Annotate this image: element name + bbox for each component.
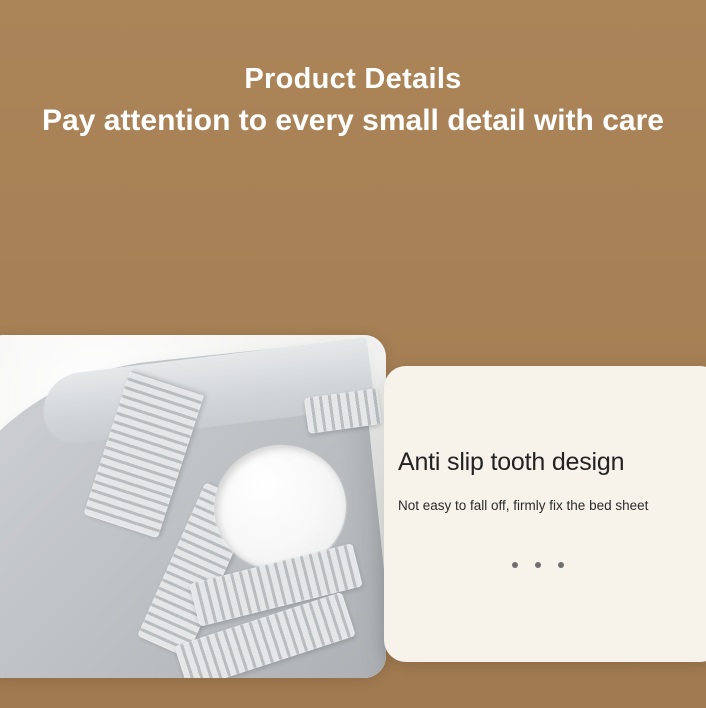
- page-title: Product Details: [0, 60, 706, 98]
- feature-description: Not easy to fall off, firmly fix the bed…: [398, 498, 706, 513]
- product-photo-image: [0, 335, 386, 678]
- feature-title: Anti slip tooth design: [398, 448, 706, 477]
- page-heading: Product Details Pay attention to every s…: [0, 60, 706, 142]
- carousel-dots[interactable]: [512, 562, 564, 568]
- page-subtitle: Pay attention to every small detail with…: [0, 100, 706, 142]
- carousel-dot[interactable]: [535, 562, 541, 568]
- carousel-dot[interactable]: [512, 562, 518, 568]
- feature-info-card: Anti slip tooth design Not easy to fall …: [384, 366, 706, 662]
- product-photo-card: [0, 335, 386, 678]
- carousel-dot[interactable]: [558, 562, 564, 568]
- product-details-page: Product Details Pay attention to every s…: [0, 0, 706, 708]
